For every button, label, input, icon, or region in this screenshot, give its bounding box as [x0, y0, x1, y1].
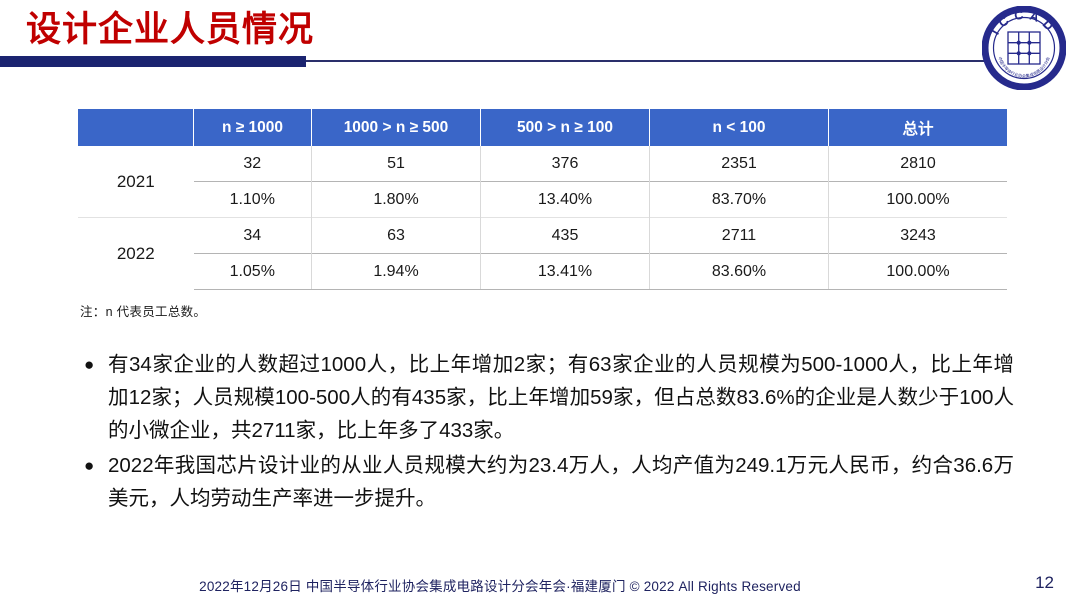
cell-2021-500-1000-pct: 1.80%	[312, 182, 481, 218]
cell-2021-ge1000-pct: 1.10%	[194, 182, 312, 218]
table-header-total: 总计	[829, 109, 1008, 146]
table-header-ge1000: n ≥ 1000	[194, 109, 312, 146]
table-header-500-1000: 1000 > n ≥ 500	[312, 109, 481, 146]
table-header-100-500: 500 > n ≥ 100	[481, 109, 650, 146]
row-label-year-2021: 2021	[78, 146, 194, 218]
footer-copyright-text: 2022年12月26日 中国半导体行业协会集成电路设计分会年会·福建厦门 © 2…	[0, 575, 1000, 595]
table-header-corner	[78, 109, 194, 146]
table-row: 1.10% 1.80% 13.40% 83.70% 100.00%	[78, 182, 1007, 218]
stats-table-container: n ≥ 1000 1000 > n ≥ 500 500 > n ≥ 100 n …	[78, 109, 1002, 290]
cell-2021-lt100-pct: 83.70%	[650, 182, 829, 218]
cell-2021-ge1000-count: 32	[194, 146, 312, 182]
table-header: n ≥ 1000 1000 > n ≥ 500 500 > n ≥ 100 n …	[78, 109, 1007, 146]
table-header-row: n ≥ 1000 1000 > n ≥ 500 500 > n ≥ 100 n …	[78, 109, 1007, 146]
table-row: 2022 34 63 435 2711 3243	[78, 218, 1007, 254]
cell-2021-total-count: 2810	[829, 146, 1008, 182]
bullet-marker-icon: ●	[84, 449, 94, 482]
list-item: ● 有34家企业的人数超过1000人，比上年增加2家；有63家企业的人员规模为5…	[82, 348, 1014, 447]
cell-2022-100-500-count: 435	[481, 218, 650, 254]
table-row: 1.05% 1.94% 13.41% 83.60% 100.00%	[78, 254, 1007, 290]
table-note: 注：n 代表员工总数。	[80, 301, 206, 320]
bullet-list: ● 有34家企业的人数超过1000人，比上年增加2家；有63家企业的人员规模为5…	[82, 348, 1014, 517]
iccad-logo: I C C A D 中国半导体行业协会集成电路设计分会	[982, 6, 1066, 90]
table-body: 2021 32 51 376 2351 2810 1.10% 1.80% 13.…	[78, 146, 1007, 290]
list-item-text: 2022年我国芯片设计业的从业人员规模大约为23.4万人，人均产值为249.1万…	[108, 454, 1014, 510]
page-number: 12	[1035, 573, 1054, 593]
cell-2021-500-1000-count: 51	[312, 146, 481, 182]
table-header-lt100: n < 100	[650, 109, 829, 146]
slide-header: 设计企业人员情况 I C C A D	[0, 0, 1080, 100]
cell-2021-100-500-count: 376	[481, 146, 650, 182]
row-label-year-2022: 2022	[78, 218, 194, 290]
list-item-text: 有34家企业的人数超过1000人，比上年增加2家；有63家企业的人员规模为500…	[108, 353, 1014, 442]
cell-2022-lt100-pct: 83.60%	[650, 254, 829, 290]
cell-2022-100-500-pct: 13.41%	[481, 254, 650, 290]
cell-2022-lt100-count: 2711	[650, 218, 829, 254]
cell-2022-total-count: 3243	[829, 218, 1008, 254]
cell-2022-500-1000-count: 63	[312, 218, 481, 254]
title-underline-thin	[306, 60, 986, 62]
page-title: 设计企业人员情况	[26, 8, 314, 52]
list-item: ● 2022年我国芯片设计业的从业人员规模大约为23.4万人，人均产值为249.…	[82, 449, 1014, 515]
bullet-marker-icon: ●	[84, 348, 94, 381]
cell-2022-total-pct: 100.00%	[829, 254, 1008, 290]
table-row: 2021 32 51 376 2351 2810	[78, 146, 1007, 182]
cell-2022-500-1000-pct: 1.94%	[312, 254, 481, 290]
cell-2022-ge1000-count: 34	[194, 218, 312, 254]
cell-2021-100-500-pct: 13.40%	[481, 182, 650, 218]
slide-footer: 2022年12月26日 中国半导体行业协会集成电路设计分会年会·福建厦门 © 2…	[0, 567, 1080, 607]
personnel-stats-table: n ≥ 1000 1000 > n ≥ 500 500 > n ≥ 100 n …	[78, 109, 1007, 290]
title-underline-thick	[0, 56, 306, 67]
cell-2022-ge1000-pct: 1.05%	[194, 254, 312, 290]
cell-2021-lt100-count: 2351	[650, 146, 829, 182]
cell-2021-total-pct: 100.00%	[829, 182, 1008, 218]
